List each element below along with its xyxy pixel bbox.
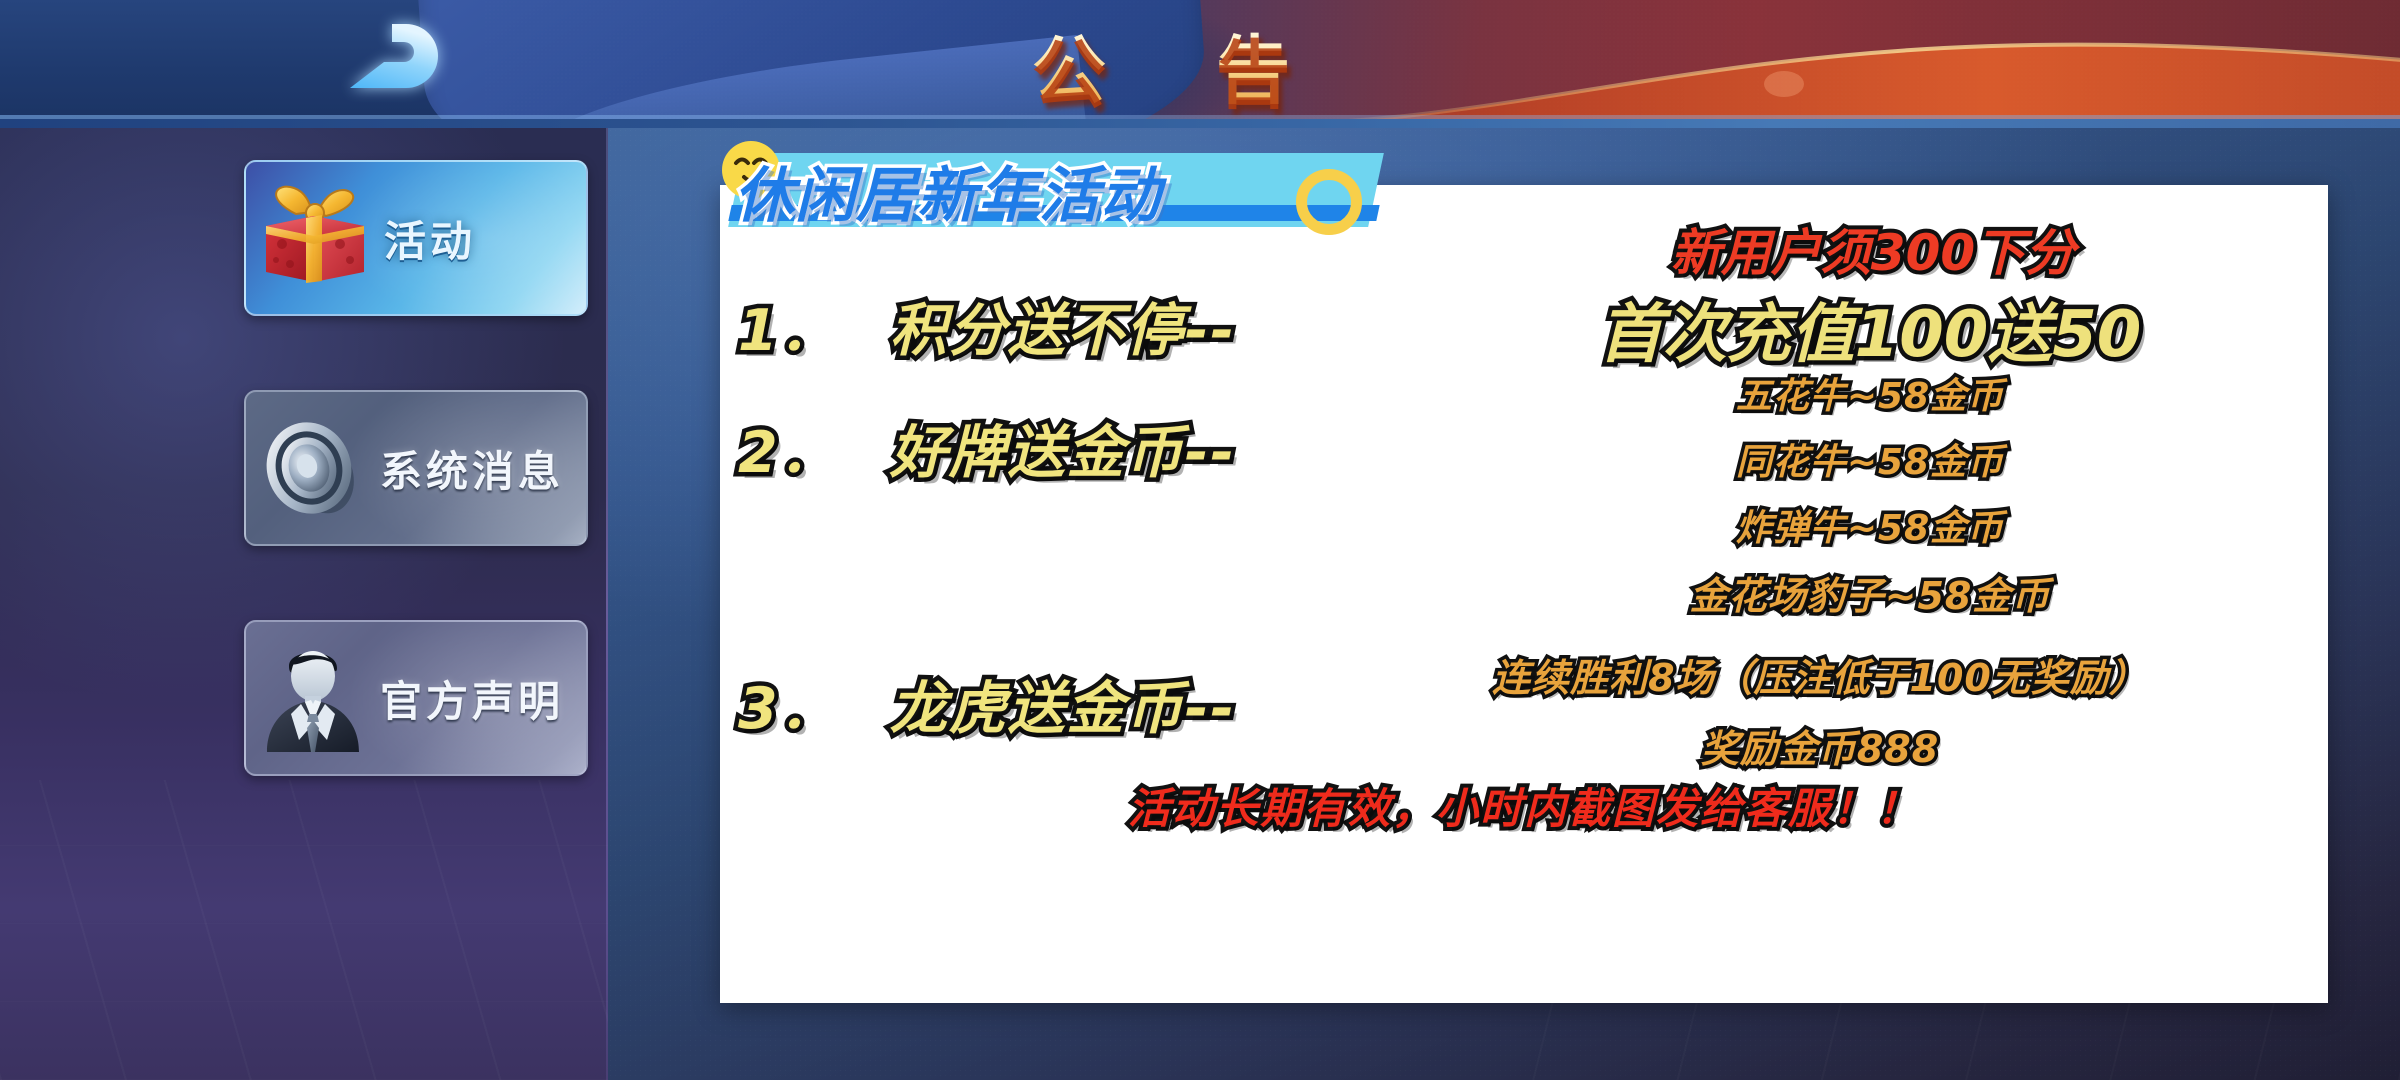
item-number: 3． — [738, 676, 839, 742]
businessman-icon — [246, 620, 380, 776]
detail-line: 同花牛~58金币 — [1420, 433, 2320, 485]
back-arrow-icon[interactable] — [330, 18, 448, 110]
detail-line: 五花牛~58金币 — [1420, 367, 2320, 419]
sidebar-item-system-messages[interactable]: 系统消息 — [244, 390, 588, 546]
announcement-item-2: 2． 好牌送金币-- — [738, 407, 1236, 489]
top-bar-banner — [484, 0, 2400, 128]
sidebar-perspective-lines — [0, 780, 608, 1080]
item-title: 龙虎送金币-- — [890, 676, 1236, 742]
speaker-icon — [246, 390, 380, 546]
sidebar-item-label: 活动 — [384, 208, 476, 269]
sidebar: 活动 — [0, 128, 608, 1080]
app-stage: 公 告 — [0, 0, 2400, 1080]
sidebar-item-label: 官方声明 — [380, 668, 564, 729]
top-bar-bottom-strip — [0, 119, 2400, 128]
item-2-details: 五花牛~58金币 同花牛~58金币 炸弹牛~58金币 金花场豹子~58金币 — [1420, 367, 2320, 620]
item-number: 1． — [738, 298, 839, 364]
item-number: 2． — [738, 420, 839, 486]
announcement-headline: 休闲居新年活动 — [718, 143, 1383, 239]
notice-red-text: 新用户须300下分 — [1671, 224, 2075, 282]
notice-yellow-row: 首次充值100送50 — [1420, 283, 2320, 375]
headline-text: 休闲居新年活动 — [734, 147, 1161, 234]
announcement-footer: 活动长期有效，小时内截图发给客服！！ — [720, 775, 2328, 836]
top-bar: 公 告 — [0, 0, 2400, 128]
item-3-details: 连续胜利8场（压注低于100无奖励） 奖励金币888 — [1320, 647, 2320, 773]
detail-line: 金花场豹子~58金币 — [1420, 565, 2320, 620]
detail-line: 连续胜利8场（压注低于100无奖励） — [1320, 647, 2320, 702]
sidebar-item-label: 系统消息 — [380, 438, 564, 499]
sidebar-item-activity[interactable]: 活动 — [244, 160, 588, 316]
sidebar-item-official-statement[interactable]: 官方声明 — [244, 620, 588, 776]
announcement-panel: 休闲居新年活动 新用户须300下分 首次充值100送50 1． 积分送不停-- … — [720, 185, 2328, 1003]
item-title: 好牌送金币-- — [890, 420, 1236, 486]
announcement-item-1: 1． 积分送不停-- — [738, 285, 1236, 367]
notice-yellow-text: 首次充值100送50 — [1599, 298, 2142, 372]
detail-line: 炸弹牛~58金币 — [1420, 499, 2320, 551]
banner-texture — [484, 0, 2400, 128]
announcement-item-3: 3． 龙虎送金币-- — [738, 663, 1236, 745]
notice-red-row: 新用户须300下分 — [1458, 213, 2288, 285]
gift-box-icon — [246, 160, 384, 316]
detail-line: 奖励金币888 — [1320, 718, 2320, 773]
footer-text: 活动长期有效，小时内截图发给客服！！ — [1128, 784, 1920, 833]
item-title: 积分送不停-- — [890, 298, 1236, 364]
yellow-circle-decoration — [1296, 169, 1362, 235]
